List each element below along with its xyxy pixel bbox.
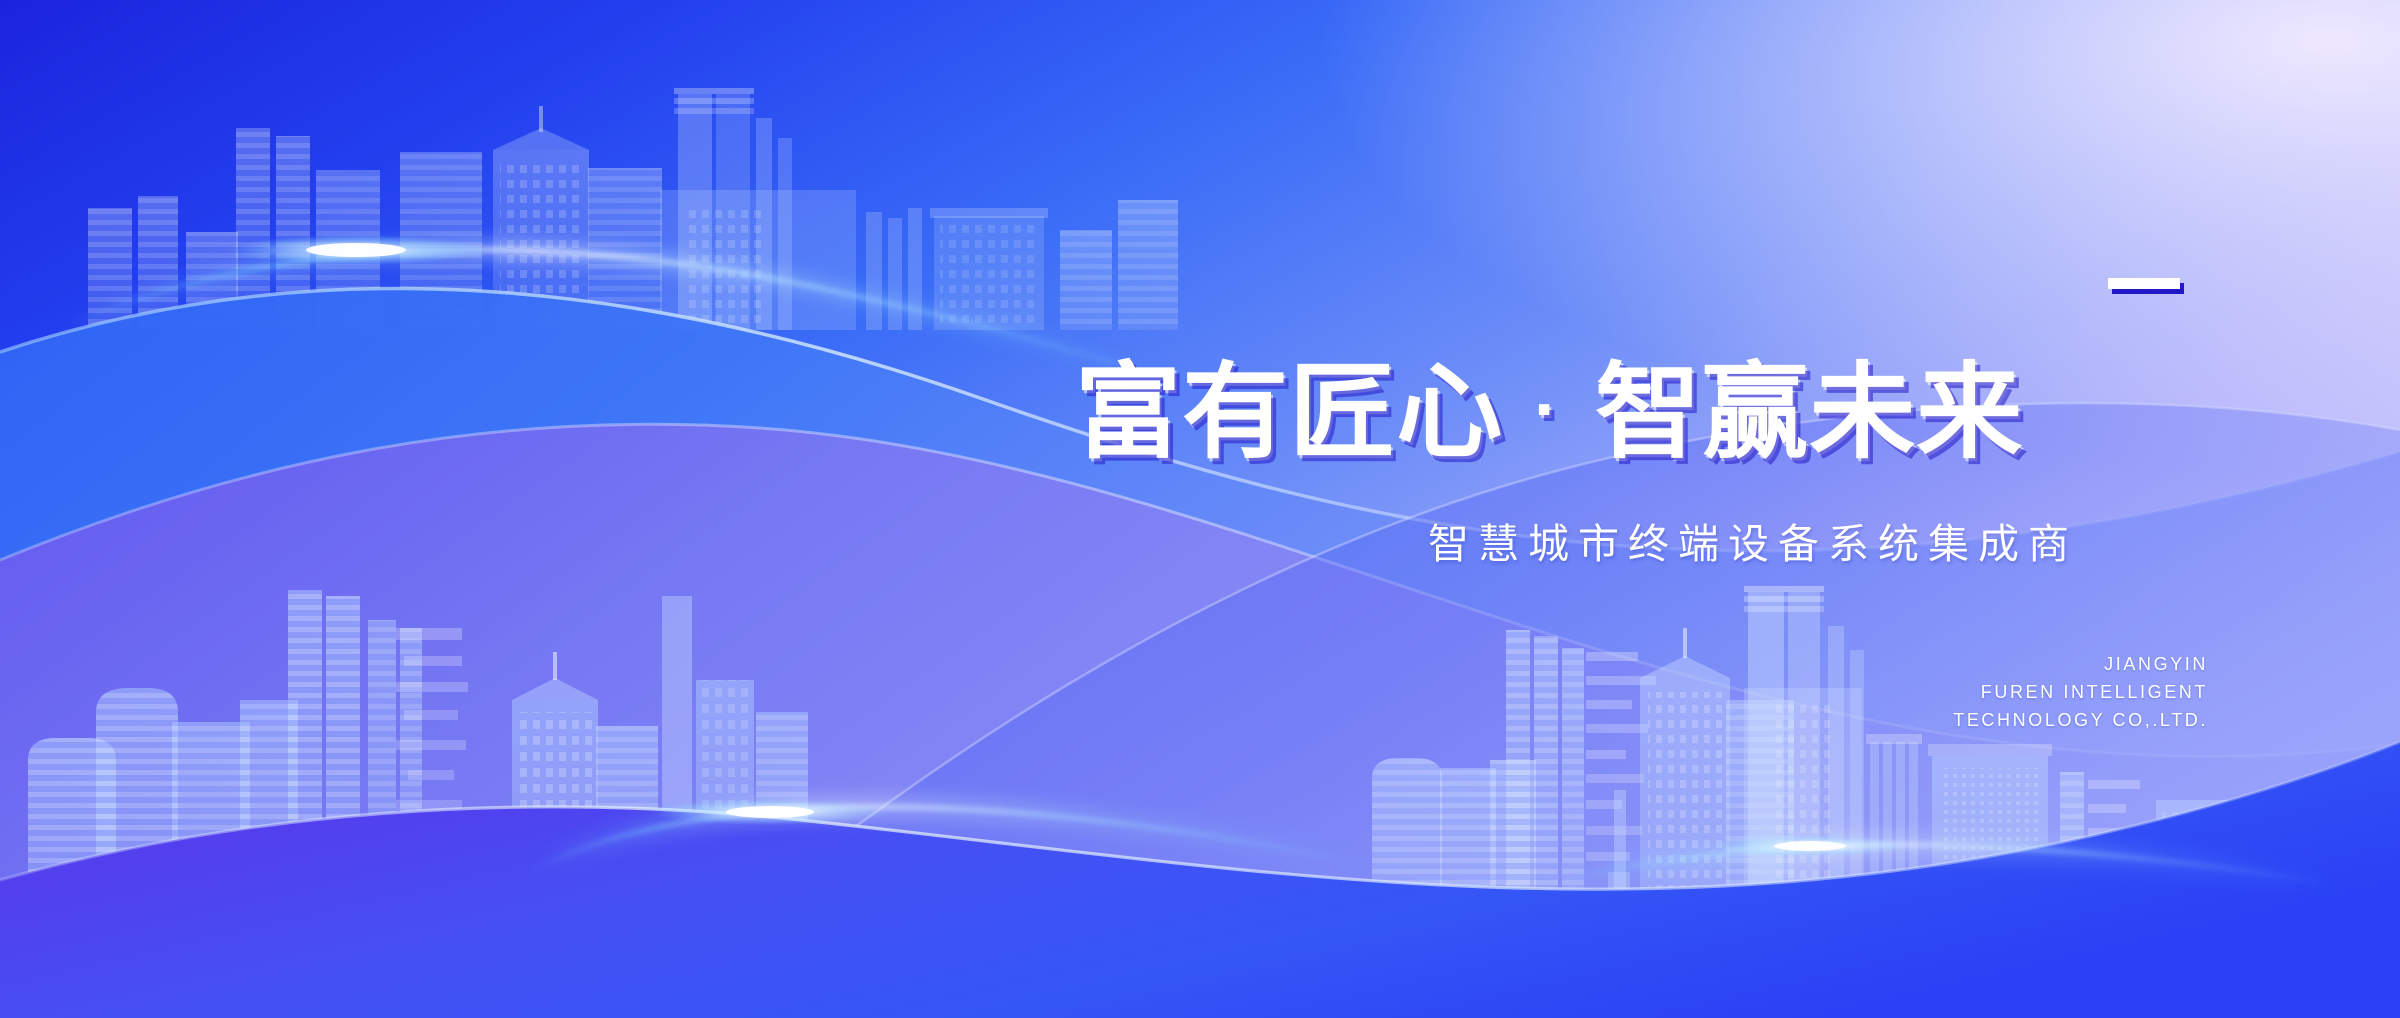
wave-glow-3 xyxy=(0,0,2400,1018)
banner-canvas: 富有匠心 · 智赢未来 智慧城市终端设备系统集成商 JIANGYIN FUREN… xyxy=(0,0,2400,1018)
